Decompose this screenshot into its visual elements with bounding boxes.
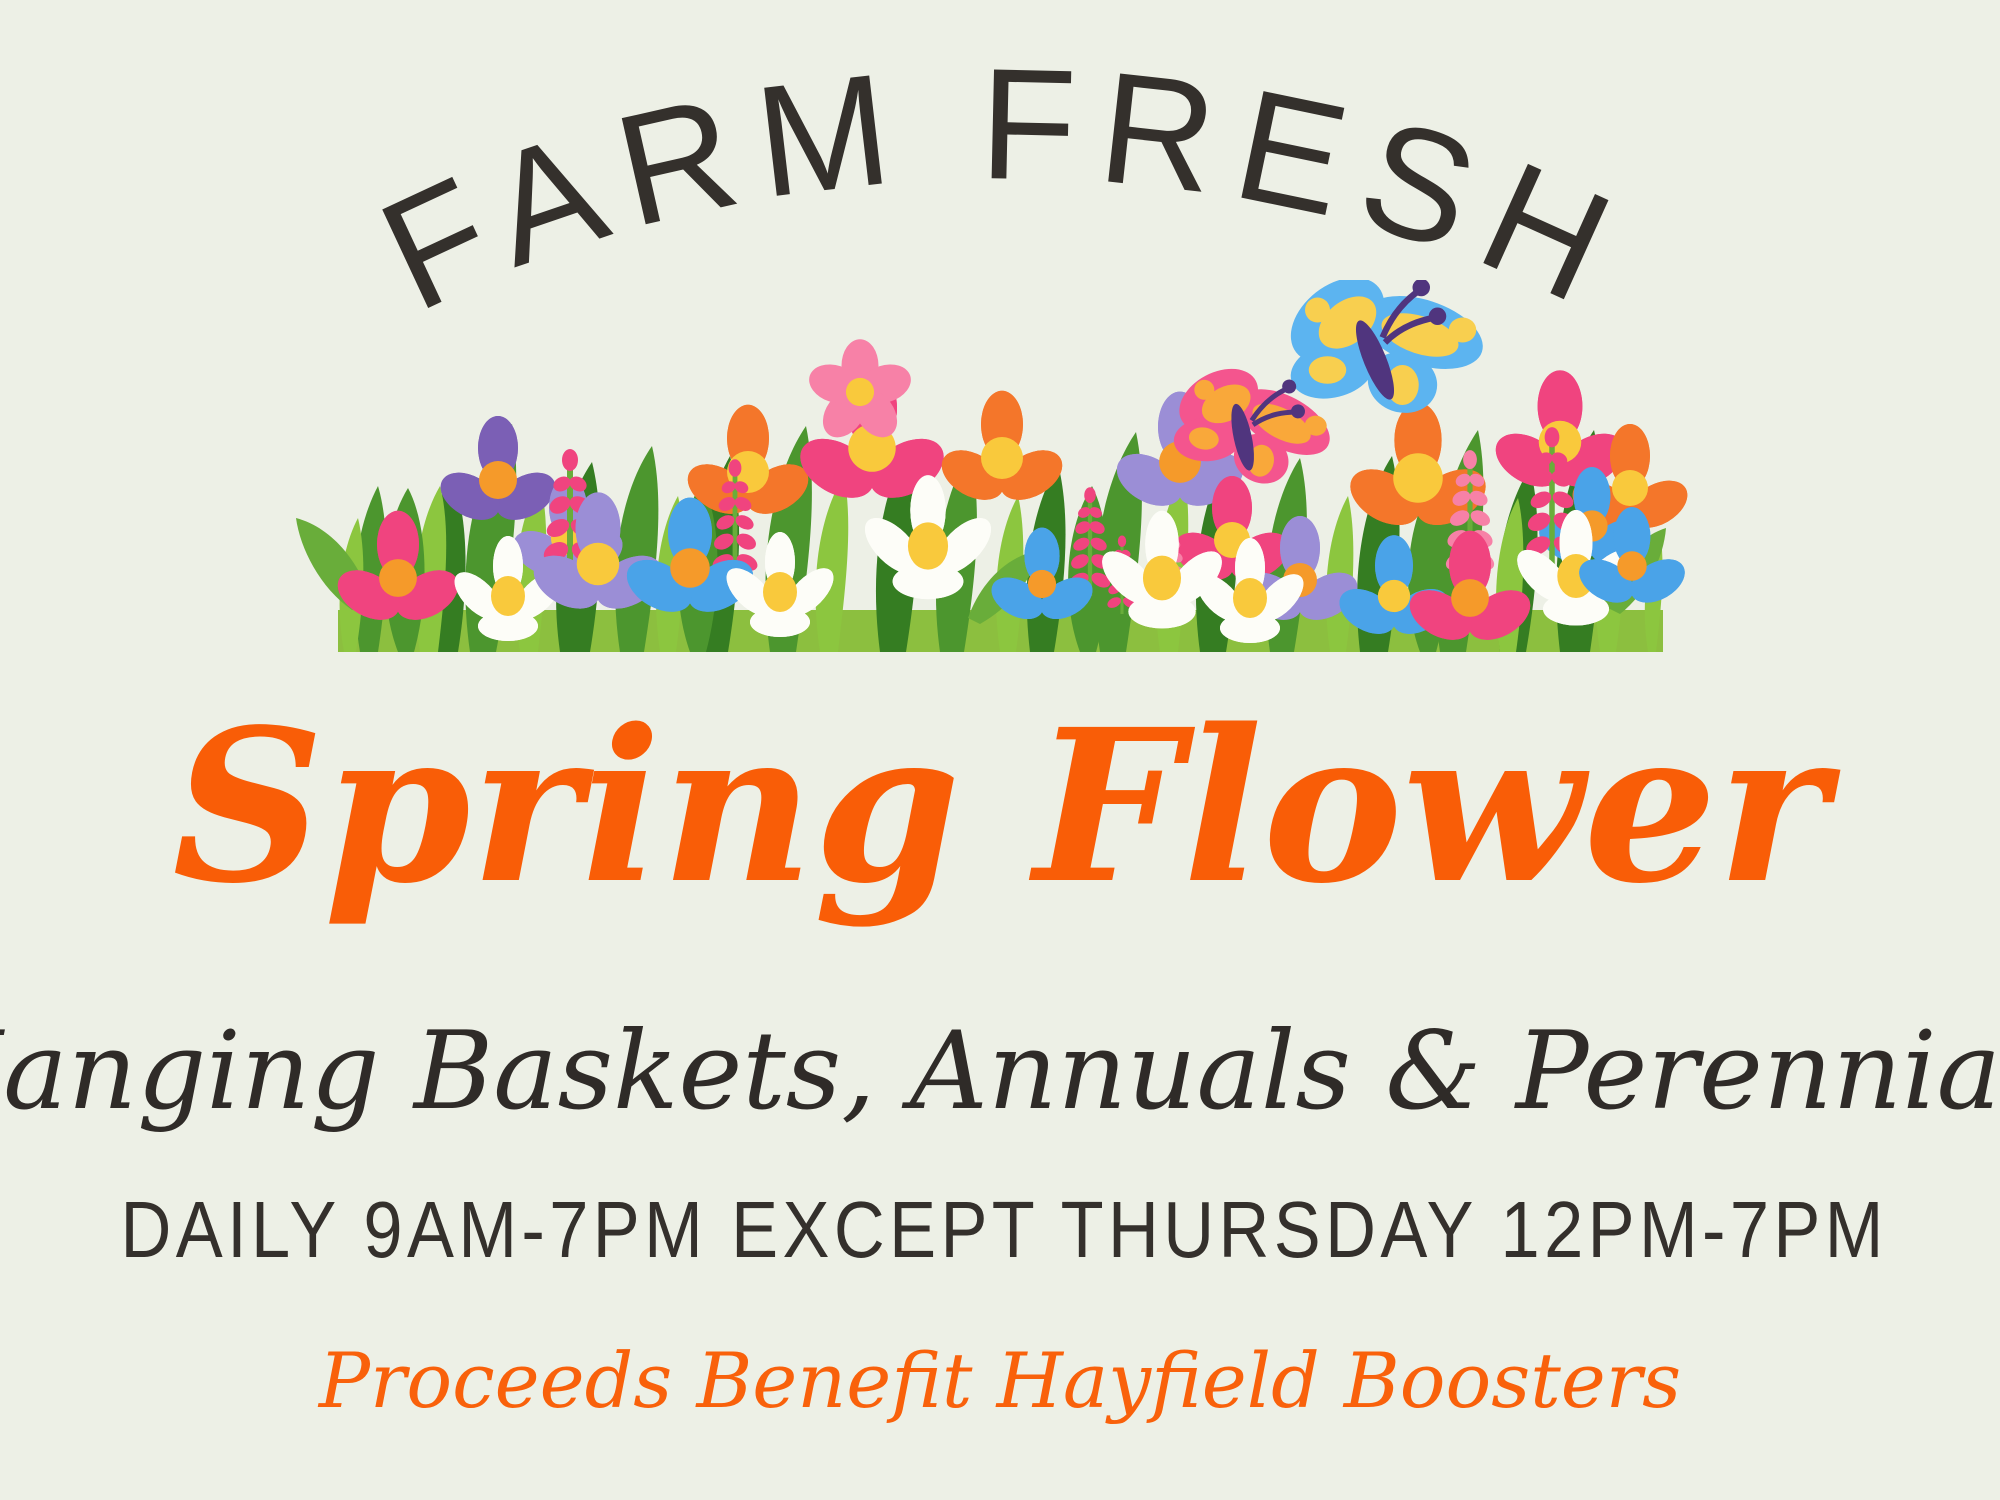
flower-garden-illustration (0, 280, 2000, 700)
script-title-text: Spring Flower (172, 690, 1841, 930)
poster-canvas: FARM FRESH (0, 0, 2000, 1500)
script-title: Spring Flower (0, 690, 2000, 950)
proceeds: Proceeds Benefit Hayfield Boosters (0, 1325, 2000, 1445)
blue-yellow-butterfly (1275, 280, 1492, 421)
hours-text: DAILY 9AM-7PM EXCEPT THURSDAY 12PM-7PM (120, 1190, 1887, 1270)
hours: DAILY 9AM-7PM EXCEPT THURSDAY 12PM-7PM (0, 1190, 2000, 1300)
subtitle: Hanging Baskets, Annuals & Perennials (0, 1000, 2000, 1150)
proceeds-text: Proceeds Benefit Hayfield Boosters (317, 1336, 1681, 1425)
subtitle-text: Hanging Baskets, Annuals & Perennials (0, 1009, 2000, 1134)
